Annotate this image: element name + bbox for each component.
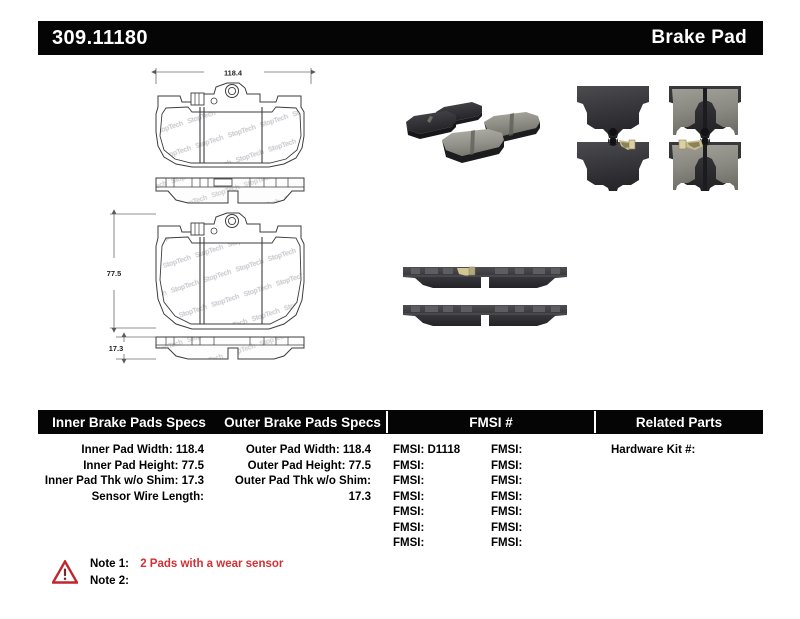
spec-table-body: Inner Pad Width: 118.4 Inner Pad Height:… (38, 434, 763, 552)
inner-spec-row: Inner Pad Width: 118.4 (38, 443, 204, 459)
pad-plan-view-top (156, 83, 304, 167)
fmsi-row: FMSI: (491, 521, 589, 537)
spec-table: Inner Brake Pads Specs Outer Brake Pads … (38, 410, 763, 552)
fmsi-row: FMSI: (393, 505, 491, 521)
fmsi-row: FMSI: (393, 536, 491, 552)
fmsi-row: FMSI: (491, 536, 589, 552)
note-1-row: Note 1: 2 Pads with a wear sensor (90, 556, 283, 573)
header-bar: 309.11180 Brake Pad (38, 21, 763, 55)
brake-pad-edge-view-photo (395, 255, 575, 340)
related-part-row: Hardware Kit #: (611, 443, 761, 459)
part-number: 309.11180 (52, 27, 148, 50)
fmsi-row: FMSI: D1118 (393, 443, 491, 459)
fmsi-row: FMSI: (491, 505, 589, 521)
fmsi-row: FMSI: (393, 459, 491, 475)
fmsi-row: FMSI: (393, 490, 491, 506)
note-2-label: Note 2: (90, 573, 137, 590)
related-parts-cell: Hardware Kit #: (593, 443, 761, 552)
fmsi-column-left: FMSI: D1118 FMSI: FMSI: FMSI: FMSI: FMSI… (393, 443, 491, 552)
fmsi-cell: FMSI: D1118 FMSI: FMSI: FMSI: FMSI: FMSI… (385, 443, 593, 552)
dimension-height-label: 77.5 (107, 269, 121, 278)
brake-pad-set-angled-photo (398, 82, 563, 177)
pad-photo-grid-top-right (669, 86, 741, 138)
fmsi-row: FMSI: (491, 443, 589, 459)
technical-drawing: StopTech StopTech 118.4 (96, 60, 356, 370)
outer-spec-row: Outer Pad Thk w/o Shim: 17.3 (218, 474, 371, 505)
technical-drawing-svg: StopTech StopTech 118.4 (96, 60, 356, 370)
fmsi-row: FMSI: (393, 521, 491, 537)
inner-spec-row: Inner Pad Height: 77.5 (38, 459, 204, 475)
pad-photo-grid-bottom-right (669, 137, 741, 191)
spec-sheet-page: 309.11180 Brake Pad StopTech StopTech (0, 0, 800, 619)
column-header-related-parts: Related Parts (594, 411, 762, 433)
warning-triangle-icon (52, 560, 78, 584)
pad-edge-view-top (156, 178, 304, 203)
outer-spec-row: Outer Pad Height: 77.5 (218, 459, 371, 475)
outer-spec-row: Outer Pad Width: 118.4 (218, 443, 371, 459)
inner-specs-cell: Inner Pad Width: 118.4 Inner Pad Height:… (38, 443, 218, 552)
pad-photo-front-gray (442, 129, 504, 163)
pad-photo-edge-upper (403, 267, 567, 288)
dimension-width-label: 118.4 (224, 69, 243, 78)
column-header-fmsi: FMSI # (386, 411, 594, 433)
notes-section: Note 1: 2 Pads with a wear sensor Note 2… (52, 556, 283, 590)
fmsi-column-right: FMSI: FMSI: FMSI: FMSI: FMSI: FMSI: FMSI… (491, 443, 589, 552)
page-title: Brake Pad (651, 27, 747, 49)
fmsi-row: FMSI: (491, 490, 589, 506)
inner-spec-row: Inner Pad Thk w/o Shim: 17.3 (38, 474, 204, 490)
pad-edge-view-bottom (156, 337, 304, 359)
spec-table-header-row: Inner Brake Pads Specs Outer Brake Pads … (38, 410, 763, 434)
fmsi-row: FMSI: (491, 474, 589, 490)
fmsi-row: FMSI: (393, 474, 491, 490)
dimension-thickness-label: 17.3 (109, 344, 123, 353)
pad-photo-grid-top-left (577, 86, 649, 138)
outer-specs-cell: Outer Pad Width: 118.4 Outer Pad Height:… (218, 443, 385, 552)
note-1-value: 2 Pads with a wear sensor (140, 558, 283, 570)
column-header-inner-specs: Inner Brake Pads Specs (39, 411, 219, 433)
fmsi-row: FMSI: (491, 459, 589, 475)
pad-photo-left-dark (406, 111, 456, 139)
note-lines: Note 1: 2 Pads with a wear sensor Note 2… (90, 556, 283, 590)
note-1-label: Note 1: (90, 556, 137, 573)
column-header-outer-specs: Outer Brake Pads Specs (219, 411, 386, 433)
pad-photo-edge-lower (403, 305, 567, 326)
pad-plan-view-bottom (156, 213, 304, 329)
note-2-row: Note 2: (90, 573, 283, 590)
pad-photo-grid-bottom-left (577, 137, 649, 191)
inner-spec-row: Sensor Wire Length: (38, 490, 204, 506)
brake-pad-set-front-back-photo (573, 80, 748, 192)
